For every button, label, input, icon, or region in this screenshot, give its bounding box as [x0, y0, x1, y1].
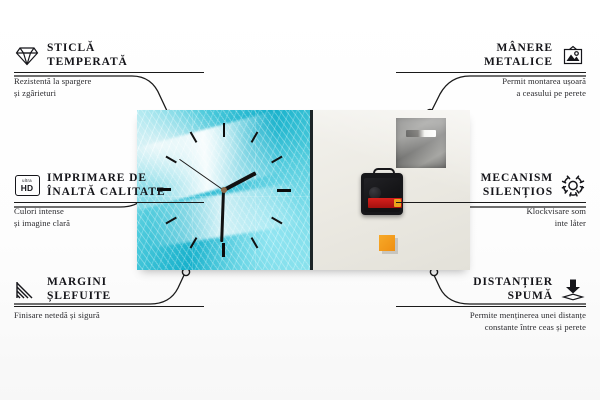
mechanism-handle [373, 168, 395, 179]
polished-lines-icon [14, 278, 40, 302]
feature-description: Permite menținerea unei distanțe constan… [396, 310, 586, 333]
feature-header: DISTANȚIER SPUMĂ [396, 276, 586, 303]
foam-spacer-icon [560, 278, 586, 302]
tick-5 [250, 237, 258, 248]
feature-header: MARGINI ȘLEFUITE [14, 276, 204, 303]
feature-foam-spacer: DISTANȚIER SPUMĂ Permite menținerea unei… [396, 276, 586, 333]
feature-header: STICLĂ TEMPERATĂ [14, 42, 204, 69]
hd-badge: ultra HD [15, 175, 40, 196]
foam-spacer-pad [379, 235, 395, 251]
feature-divider [396, 72, 586, 73]
feature-description: Culori intense și imagine clară [14, 206, 204, 229]
tick-7 [189, 237, 197, 248]
feature-print-quality: ultra HD IMPRIMARE DE ÎNALTĂ CALITATE Cu… [14, 172, 204, 229]
hd-main-label: HD [21, 184, 34, 192]
feature-description: Rezistentă la spargere și zgârieturi [14, 76, 204, 99]
feature-description: Finisare netedă și sigură [14, 310, 204, 321]
mechanism-body [364, 178, 400, 212]
minute-hand [220, 190, 225, 242]
feature-description: Permit montarea ușoară a ceasului pe per… [396, 76, 586, 99]
feature-title: STICLĂ TEMPERATĂ [47, 42, 128, 69]
infographic-canvas: STICLĂ TEMPERATĂ Rezistentă la spargere … [0, 0, 600, 400]
mechanism-setting-dial [369, 187, 381, 199]
feature-divider [14, 202, 204, 203]
feature-divider [396, 306, 586, 307]
feature-header: ultra HD IMPRIMARE DE ÎNALTĂ CALITATE [14, 172, 204, 199]
feature-title: MARGINI ȘLEFUITE [47, 276, 111, 303]
picture-hanger-icon [560, 44, 586, 68]
feature-divider [14, 72, 204, 73]
feature-polished-edges: MARGINI ȘLEFUITE Finisare netedă și sigu… [14, 276, 204, 322]
tick-11 [189, 131, 197, 142]
feature-tempered-glass: STICLĂ TEMPERATĂ Rezistentă la spargere … [14, 42, 204, 99]
feature-title: DISTANȚIER SPUMĂ [473, 276, 553, 303]
metal-hanger-plate [396, 118, 446, 168]
tick-10 [165, 156, 176, 164]
feature-header: MÂNERE METALICE [396, 42, 586, 69]
diamond-icon [14, 44, 40, 68]
feature-description: Klockvisare som inte låter [396, 206, 586, 229]
feature-title: IMPRIMARE DE ÎNALTĂ CALITATE [47, 172, 165, 199]
feature-divider [14, 306, 204, 307]
feature-divider [396, 202, 586, 203]
ultra-hd-icon: ultra HD [14, 174, 40, 198]
tick-2 [271, 156, 282, 164]
hanger-slot [406, 130, 436, 137]
feature-title: MÂNERE METALICE [484, 42, 553, 69]
gear-icon [560, 174, 586, 198]
feature-header: MECANISM SILENȚIOS [396, 172, 586, 199]
tick-6 [222, 243, 225, 257]
feature-title: MECANISM SILENȚIOS [481, 172, 553, 199]
tick-1 [250, 131, 258, 142]
tick-12 [223, 123, 226, 137]
tick-4 [271, 217, 282, 225]
hand-center-cap [221, 187, 227, 193]
hour-hand [223, 171, 257, 191]
feature-metal-handles: MÂNERE METALICE Permit montarea ușoară a… [396, 42, 586, 99]
tick-3 [277, 189, 291, 192]
feature-silent-mechanism: MECANISM SILENȚIOS Klockvisare som inte … [396, 172, 586, 229]
